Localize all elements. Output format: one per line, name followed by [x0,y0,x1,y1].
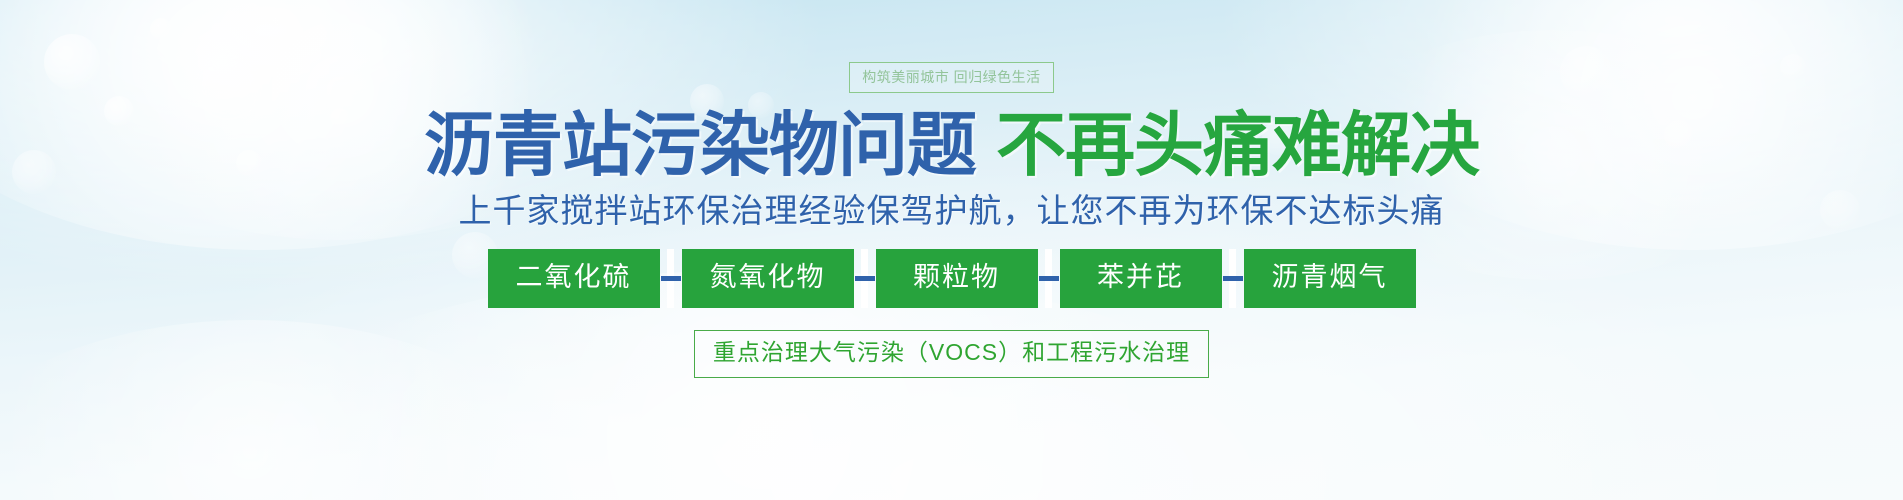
headline-green-text: 不再头痛难解决 [996,104,1479,186]
chip-divider-icon [854,249,876,308]
pollutant-chip-list: 二氧化硫 氮氧化物 颗粒物 苯并芘 沥青烟气 [488,249,1416,308]
pollutant-chip[interactable]: 二氧化硫 [488,249,660,308]
pollutant-chip[interactable]: 苯并芘 [1060,249,1222,308]
pollutant-chip[interactable]: 沥青烟气 [1244,249,1416,308]
banner-content: 构筑美丽城市 回归绿色生活 沥青站污染物问题不再头痛难解决 上千家搅拌站环保治理… [0,0,1903,500]
footnote-callout: 重点治理大气污染（VOCS）和工程污水治理 [694,330,1209,378]
eyebrow-tagline: 构筑美丽城市 回归绿色生活 [849,62,1053,93]
pollutant-chip[interactable]: 氮氧化物 [682,249,854,308]
promo-banner: 构筑美丽城市 回归绿色生活 沥青站污染物问题不再头痛难解决 上千家搅拌站环保治理… [0,0,1903,500]
subheadline: 上千家搅拌站环保治理经验保驾护航，让您不再为环保不达标头痛 [459,193,1445,229]
chip-divider-icon [1038,249,1060,308]
headline-blue-text: 沥青站污染物问题 [424,104,976,186]
headline: 沥青站污染物问题不再头痛难解决 [424,110,1479,180]
chip-divider-icon [1222,249,1244,308]
pollutant-chip[interactable]: 颗粒物 [876,249,1038,308]
chip-divider-icon [660,249,682,308]
